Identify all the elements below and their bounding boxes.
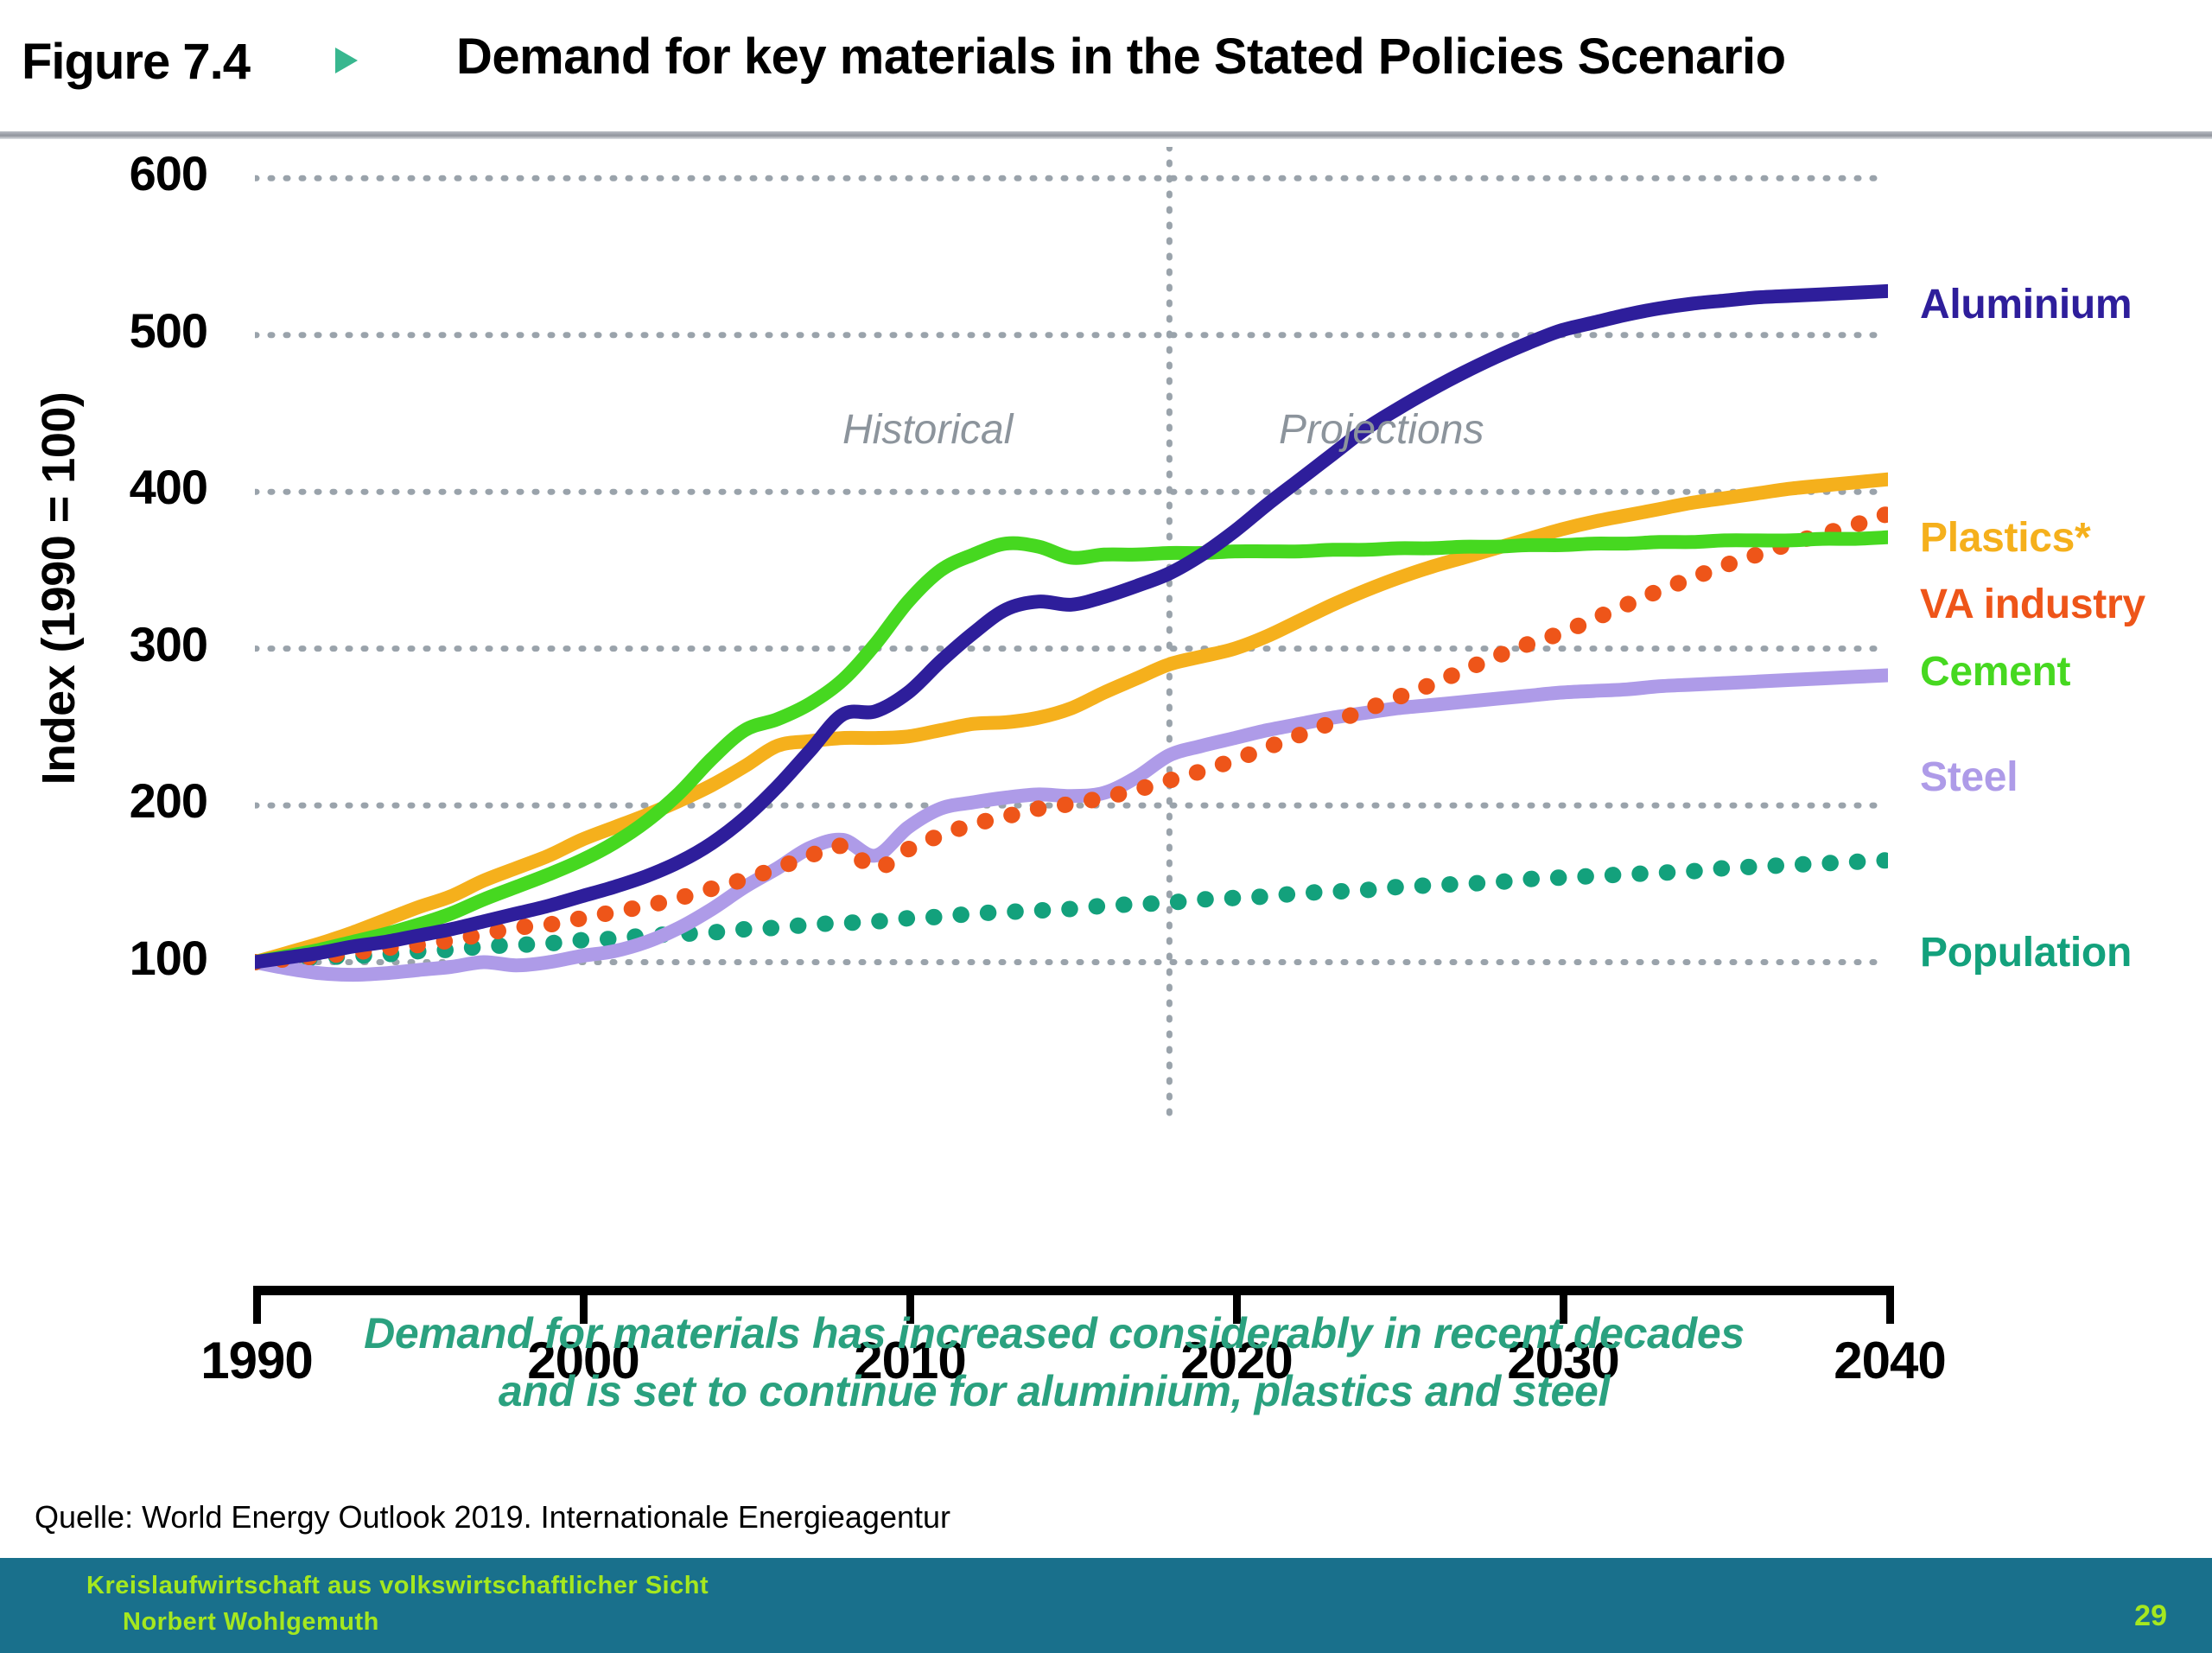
y-tick-300: 300 — [35, 616, 207, 672]
triangle-right-icon — [335, 48, 358, 73]
y-tick-100: 100 — [35, 930, 207, 986]
chart-container: Index (1990 = 100) 100200300400500600 Hi… — [0, 147, 2212, 1270]
caption-line-2: and is set to continue for aluminium, pl… — [0, 1363, 2108, 1421]
x-axis-line — [257, 1286, 1890, 1295]
y-axis-label: Index (1990 = 100) — [32, 346, 86, 830]
y-tick-400: 400 — [35, 459, 207, 515]
series-line-aluminium — [255, 291, 1888, 963]
legend-item-plastics[interactable]: Plastics* — [1920, 514, 2090, 562]
plot-area — [255, 147, 1888, 1119]
annotation-historical: Historical — [842, 406, 1013, 454]
figure-title: Demand for key materials in the Stated P… — [456, 28, 1786, 86]
page-number: 29 — [2134, 1599, 2167, 1633]
figure-header: Figure 7.4 Demand for key materials in t… — [0, 0, 2212, 143]
y-tick-500: 500 — [35, 302, 207, 359]
slide-footer: Kreislaufwirtschaft aus volkswirtschaftl… — [0, 1558, 2212, 1653]
chart-svg — [255, 147, 1888, 1119]
legend-item-cement[interactable]: Cement — [1920, 648, 2070, 696]
figure-caption: Demand for materials has increased consi… — [0, 1305, 2108, 1420]
legend-item-aluminium[interactable]: Aluminium — [1920, 281, 2132, 328]
source-note: Quelle: World Energy Outlook 2019. Inter… — [35, 1499, 950, 1535]
footer-author: Norbert Wohlgemuth — [123, 1608, 379, 1637]
y-tick-200: 200 — [35, 772, 207, 829]
legend-item-steel[interactable]: Steel — [1920, 753, 2018, 801]
footer-title: Kreislaufwirtschaft aus volkswirtschaftl… — [86, 1572, 709, 1600]
y-tick-600: 600 — [35, 145, 207, 201]
legend-item-population[interactable]: Population — [1920, 929, 2132, 976]
annotation-projections: Projections — [1279, 406, 1484, 454]
caption-line-1: Demand for materials has increased consi… — [0, 1305, 2108, 1363]
figure-label: Figure 7.4 — [22, 33, 250, 91]
legend-item-va-industry[interactable]: VA industry — [1920, 581, 2145, 628]
header-divider — [0, 131, 2212, 139]
